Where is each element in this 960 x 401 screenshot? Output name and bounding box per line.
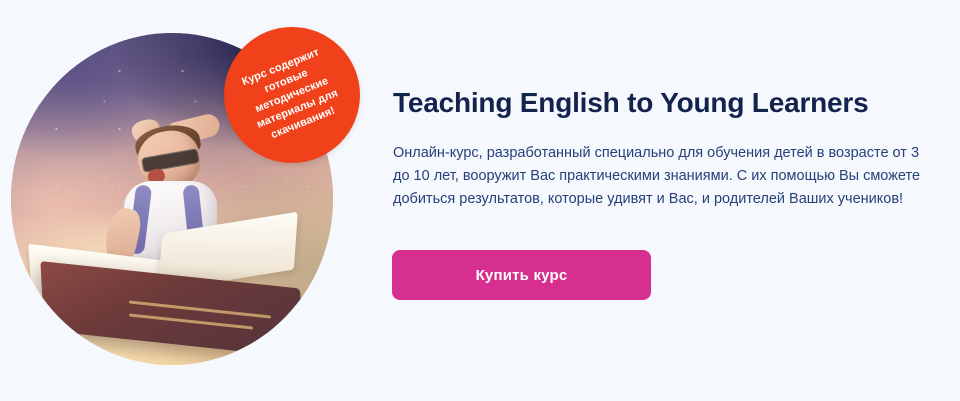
page-title: Teaching English to Young Learners	[393, 86, 933, 120]
hero-description: Онлайн-курс, разработанный специально дл…	[393, 120, 923, 211]
promo-badge: Курс содержит готовые методические матер…	[224, 27, 360, 163]
hero-section: Курс содержит готовые методические матер…	[0, 0, 960, 401]
promo-badge-label: Курс содержит готовые методические матер…	[222, 38, 361, 152]
hero-content: Teaching English to Young Learners Онлай…	[393, 86, 933, 211]
buy-course-button[interactable]: Купить курс	[392, 250, 651, 300]
open-book	[24, 216, 333, 365]
book-cover	[41, 261, 304, 358]
